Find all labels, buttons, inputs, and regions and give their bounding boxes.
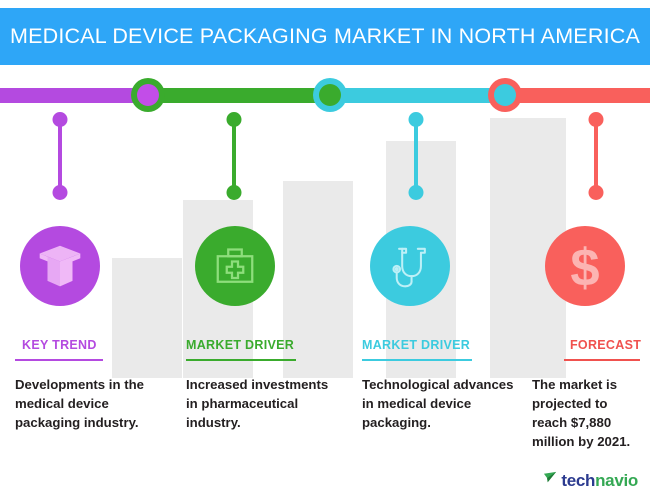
column-body-market-driver-2: Technological advances in medical device… [362, 375, 522, 432]
icon-disc-market-driver-2[interactable] [370, 226, 450, 306]
connector-dot-bottom [52, 185, 67, 200]
timeline-node-1-core [137, 84, 159, 106]
icon-disc-market-driver-1[interactable] [195, 226, 275, 306]
connector-column-1 [52, 112, 67, 200]
connector-stem [232, 119, 236, 193]
chart-bar-1 [112, 258, 182, 378]
logo-text-primary: tech [561, 471, 595, 490]
svg-text:$: $ [570, 238, 599, 294]
column-rule-key-trend [15, 359, 103, 361]
package-box-icon [35, 241, 85, 291]
technavio-arrow-icon [543, 470, 558, 490]
header-bar: MEDICAL DEVICE PACKAGING MARKET IN NORTH… [0, 8, 650, 65]
logo-text-secondary: navio [595, 471, 638, 490]
icon-disc-key-trend[interactable] [20, 226, 100, 306]
column-rule-forecast [564, 359, 640, 361]
stethoscope-icon [385, 241, 435, 291]
connector-column-2 [226, 112, 241, 200]
column-body-forecast: The market is projected to reach $7,880 … [532, 375, 644, 451]
timeline-node-3-core [494, 84, 516, 106]
timeline-segment-green [140, 88, 340, 103]
column-label-market-driver-1: MARKET DRIVER [186, 338, 294, 352]
connector-stem [58, 119, 62, 193]
technavio-logo[interactable]: technavio [543, 470, 638, 490]
connector-stem [414, 119, 418, 193]
connector-column-4 [588, 112, 603, 200]
timeline-node-2-core [319, 84, 341, 106]
timeline-node-3 [488, 78, 522, 112]
connector-dot-bottom [226, 185, 241, 200]
dollar-sign-icon: $ [560, 238, 610, 294]
first-aid-kit-icon [211, 242, 259, 290]
connector-dot-bottom [588, 185, 603, 200]
connector-column-3 [408, 112, 423, 200]
column-body-key-trend: Developments in the medical device packa… [15, 375, 167, 432]
connector-dot-bottom [408, 185, 423, 200]
column-label-key-trend: KEY TREND [22, 338, 97, 352]
column-rule-market-driver-1 [186, 359, 296, 361]
column-body-market-driver-1: Increased investments in pharmaceutical … [186, 375, 331, 432]
icon-disc-forecast[interactable]: $ [545, 226, 625, 306]
infographic-canvas: MEDICAL DEVICE PACKAGING MARKET IN NORTH… [0, 0, 650, 502]
timeline-node-1 [131, 78, 165, 112]
column-rule-market-driver-2 [362, 359, 472, 361]
column-label-forecast: FORECAST [570, 338, 641, 352]
timeline-node-2 [313, 78, 347, 112]
page-title: MEDICAL DEVICE PACKAGING MARKET IN NORTH… [10, 24, 640, 49]
column-label-market-driver-2: MARKET DRIVER [362, 338, 470, 352]
connector-stem [594, 119, 598, 193]
timeline-segment-cyan [322, 88, 514, 103]
